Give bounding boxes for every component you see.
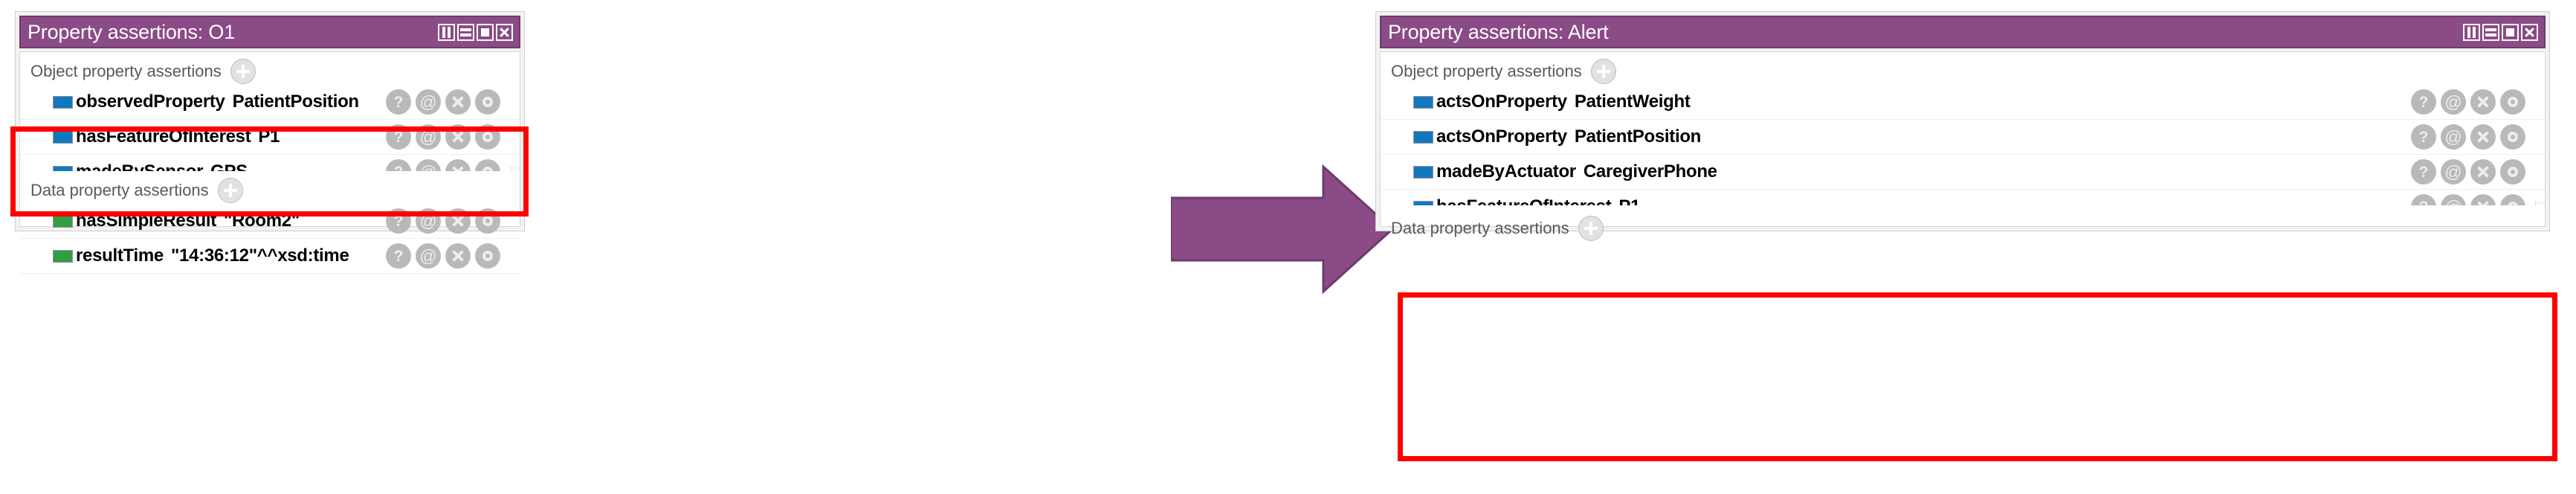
right-data-section-header: Data property assertions: [1381, 205, 2545, 235]
left-data-property-section: Data property assertions hasSimpleResult…: [20, 171, 520, 226]
maximize-icon[interactable]: [477, 24, 494, 41]
left-property-assertions-window: Property assertions: O1 Object property …: [15, 11, 525, 231]
annotate-icon[interactable]: [416, 243, 441, 269]
object-property-icon: [1413, 166, 1433, 179]
left-window-title: Property assertions: O1: [21, 21, 235, 44]
row-actions: [386, 243, 500, 269]
table-row[interactable]: observedProperty PatientPosition: [20, 85, 520, 120]
left-data-section-label: Data property assertions: [30, 181, 209, 200]
table-row[interactable]: resultTime "14:36:12"^^xsd:time: [20, 239, 520, 274]
right-data-section-label: Data property assertions: [1391, 219, 1569, 238]
property-name: resultTime: [76, 246, 164, 266]
property-name: observedProperty: [76, 92, 225, 112]
help-icon[interactable]: [2411, 89, 2436, 115]
row-actions: [386, 208, 500, 234]
property-name: actsOnProperty: [1436, 92, 1567, 112]
row-actions: [2411, 89, 2525, 115]
help-icon[interactable]: [386, 243, 411, 269]
property-value: "14:36:12"^^xsd:time: [171, 246, 349, 266]
add-object-property-button[interactable]: [1591, 59, 1616, 84]
property-name: hasSimpleResult: [76, 211, 216, 231]
edit-icon[interactable]: [475, 208, 500, 234]
minimize-icon[interactable]: [457, 24, 474, 41]
property-value: CaregiverPhone: [1584, 161, 1717, 182]
delete-icon[interactable]: [2470, 159, 2496, 185]
object-property-icon: [1413, 131, 1433, 144]
left-window-controls: [438, 24, 519, 41]
annotate-icon[interactable]: [416, 89, 441, 115]
right-window-body: Object property assertions actsOnPropert…: [1380, 51, 2546, 227]
edit-icon[interactable]: [475, 89, 500, 115]
help-icon[interactable]: [386, 89, 411, 115]
property-value: PatientPosition: [233, 92, 359, 112]
right-data-section-highlight: [1398, 292, 2557, 461]
property-name: actsOnProperty: [1436, 126, 1567, 147]
left-object-section-label: Object property assertions: [30, 62, 222, 81]
delete-icon[interactable]: [445, 243, 471, 269]
left-window-titlebar[interactable]: Property assertions: O1: [19, 16, 520, 48]
add-data-property-button[interactable]: [1578, 216, 1604, 241]
left-data-section-header: Data property assertions: [20, 171, 520, 201]
transition-arrow: [1171, 162, 1394, 296]
minimize-icon[interactable]: [2482, 24, 2499, 41]
right-object-property-section: Object property assertions actsOnPropert…: [1381, 52, 2545, 201]
object-property-icon: [53, 131, 73, 144]
add-data-property-button[interactable]: [218, 178, 243, 203]
row-actions: [386, 124, 500, 150]
property-value: P1: [258, 126, 280, 147]
close-icon[interactable]: [2521, 24, 2538, 41]
table-row[interactable]: madeByActuator CaregiverPhone: [1381, 155, 2545, 190]
right-object-section-header: Object property assertions: [1381, 52, 2545, 82]
delete-icon[interactable]: [445, 89, 471, 115]
close-icon[interactable]: [496, 24, 513, 41]
maximize-icon[interactable]: [2502, 24, 2519, 41]
edit-icon[interactable]: [475, 124, 500, 150]
table-row[interactable]: actsOnProperty PatientWeight: [1381, 85, 2545, 120]
delete-icon[interactable]: [445, 124, 471, 150]
right-window-title: Property assertions: Alert: [1381, 21, 1608, 44]
property-name: hasFeatureOfInterest: [76, 126, 251, 147]
right-window-controls: [2463, 24, 2544, 41]
right-object-section-label: Object property assertions: [1391, 62, 1582, 81]
right-window-titlebar[interactable]: Property assertions: Alert: [1380, 16, 2546, 48]
tile-icon[interactable]: [438, 24, 455, 41]
table-row[interactable]: hasFeatureOfInterest P1: [20, 120, 520, 155]
left-object-section-header: Object property assertions: [20, 52, 520, 82]
right-property-assertions-window: Property assertions: Alert Object proper…: [1375, 11, 2550, 231]
row-actions: [2411, 124, 2525, 150]
edit-icon[interactable]: [2500, 124, 2525, 150]
row-actions: [2411, 159, 2525, 185]
delete-icon[interactable]: [2470, 124, 2496, 150]
delete-icon[interactable]: [445, 208, 471, 234]
property-value: PatientWeight: [1575, 92, 1691, 112]
edit-icon[interactable]: [2500, 159, 2525, 185]
tile-icon[interactable]: [2463, 24, 2480, 41]
data-property-icon: [53, 215, 73, 228]
object-property-icon: [1413, 96, 1433, 109]
help-icon[interactable]: [386, 208, 411, 234]
property-value: PatientPosition: [1575, 126, 1701, 147]
help-icon[interactable]: [2411, 159, 2436, 185]
annotate-icon[interactable]: [416, 208, 441, 234]
help-icon[interactable]: [2411, 124, 2436, 150]
edit-icon[interactable]: [2500, 89, 2525, 115]
right-data-property-section: Data property assertions: [1381, 205, 2545, 226]
add-object-property-button[interactable]: [230, 59, 256, 84]
annotate-icon[interactable]: [416, 124, 441, 150]
data-property-icon: [53, 250, 73, 263]
object-property-icon: [53, 96, 73, 109]
table-row[interactable]: actsOnProperty PatientPosition: [1381, 120, 2545, 155]
property-name: madeByActuator: [1436, 161, 1576, 182]
row-actions: [386, 89, 500, 115]
help-icon[interactable]: [386, 124, 411, 150]
annotate-icon[interactable]: [2441, 124, 2466, 150]
annotate-icon[interactable]: [2441, 159, 2466, 185]
left-window-body: Object property assertions observedPrope…: [19, 51, 520, 227]
property-value: "Room2": [224, 211, 300, 231]
left-data-rows: hasSimpleResult "Room2" resultTime "14:3…: [20, 204, 520, 274]
right-object-rows: actsOnProperty PatientWeight actsOnPrope…: [1381, 85, 2545, 225]
edit-icon[interactable]: [475, 243, 500, 269]
delete-icon[interactable]: [2470, 89, 2496, 115]
table-row[interactable]: hasSimpleResult "Room2": [20, 204, 520, 239]
left-object-property-section: Object property assertions observedPrope…: [20, 52, 520, 167]
annotate-icon[interactable]: [2441, 89, 2466, 115]
